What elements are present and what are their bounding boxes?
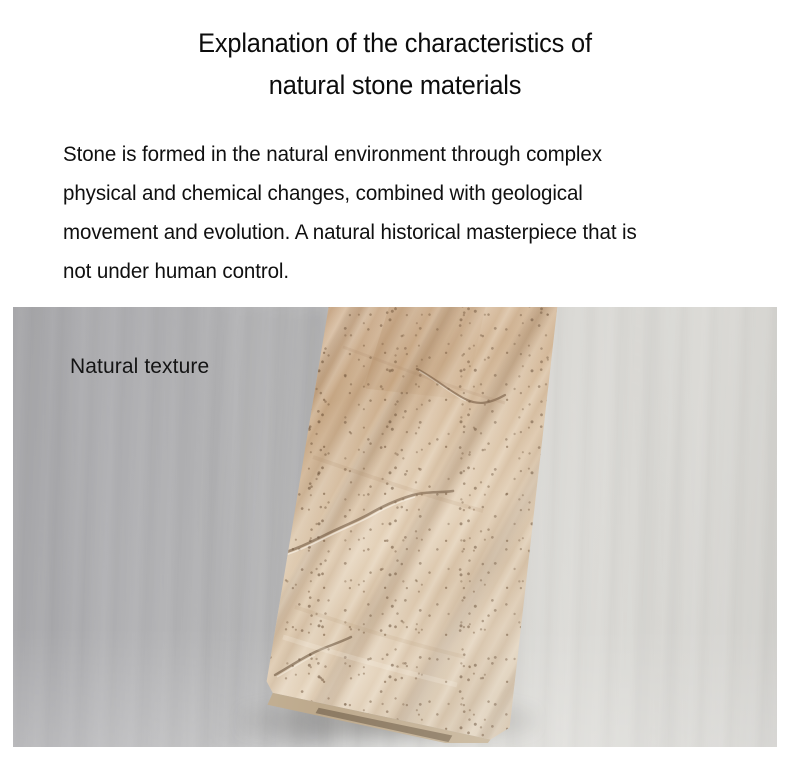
- description-line-3: movement and evolution. A natural histor…: [63, 213, 722, 252]
- description-line-4: not under human control.: [63, 252, 722, 291]
- description-line-2: physical and chemical changes, combined …: [63, 174, 722, 213]
- stone-info-page: Explanation of the characteristics of na…: [0, 0, 790, 764]
- page-title: Explanation of the characteristics of na…: [0, 22, 790, 106]
- stone-photo: Natural texture: [13, 307, 777, 747]
- page-title-line-1: Explanation of the characteristics of: [24, 22, 767, 64]
- photo-caption: Natural texture: [70, 354, 209, 380]
- description-paragraph: Stone is formed in the natural environme…: [63, 135, 753, 291]
- page-title-line-2: natural stone materials: [24, 64, 767, 106]
- description-line-1: Stone is formed in the natural environme…: [63, 135, 722, 174]
